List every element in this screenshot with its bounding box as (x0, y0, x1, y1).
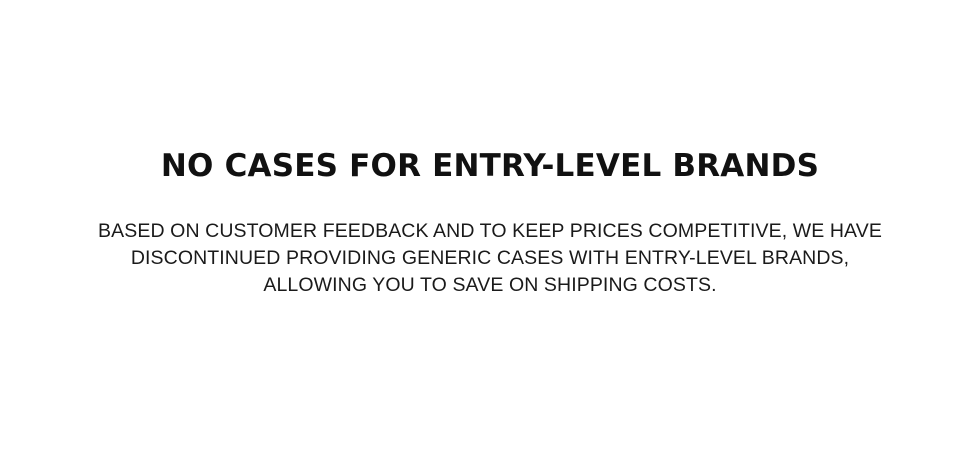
page-title: NO CASES FOR ENTRY-LEVEL BRANDS (40, 148, 940, 184)
promo-description: BASED ON CUSTOMER FEEDBACK AND TO KEEP P… (90, 218, 890, 299)
promo-banner: NO CASES FOR ENTRY-LEVEL BRANDS BASED ON… (0, 0, 980, 450)
